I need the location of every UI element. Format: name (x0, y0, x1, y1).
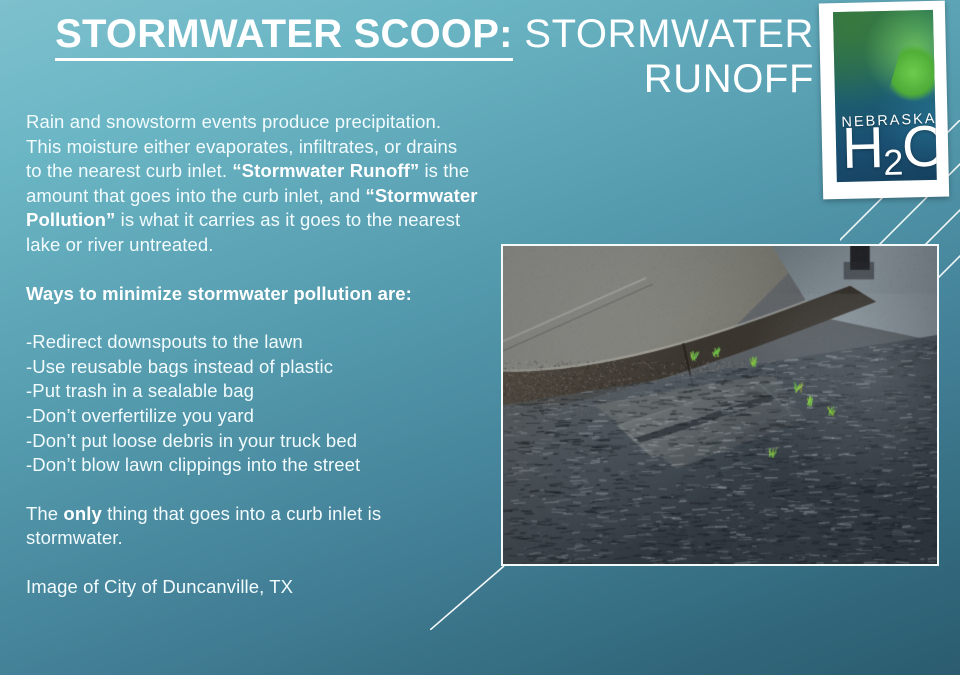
list-item: -Don’t overfertilize you yard (26, 404, 478, 429)
body-content: Rain and snowstorm events produce precip… (26, 110, 478, 600)
closing-paragraph: The only thing that goes into a curb inl… (26, 502, 478, 551)
spacer (26, 258, 478, 282)
logo-text-group: NEBRASKA H2O (841, 112, 934, 180)
list-item: -Redirect downspouts to the lawn (26, 330, 478, 355)
logo-artwork: NEBRASKA H2O (833, 10, 937, 182)
slide-canvas: STORMWATER SCOOP: STORMWATER RUNOFF NEBR… (0, 0, 960, 675)
logo-formula: H2O (842, 122, 935, 180)
spacer (26, 306, 478, 330)
intro-bold-runoff: “Stormwater Runoff” (232, 160, 419, 181)
closing-text-1: The (26, 503, 63, 524)
ways-heading: Ways to minimize stormwater pollution ar… (26, 282, 478, 307)
logo-formula-subscript: 2 (883, 142, 903, 182)
nebraska-h2o-logo: NEBRASKA H2O (819, 1, 949, 200)
storm-drain-photo-canvas (503, 246, 937, 564)
title-line-1: STORMWATER SCOOP: STORMWATER (0, 14, 822, 55)
spacer (26, 551, 478, 575)
image-credit: Image of City of Duncanville, TX (26, 575, 478, 600)
storm-drain-photo (501, 244, 939, 566)
list-item: -Use reusable bags instead of plastic (26, 355, 478, 380)
list-item: -Don’t put loose debris in your truck be… (26, 429, 478, 454)
title-rest-line-1: STORMWATER (513, 12, 814, 56)
ways-list: -Redirect downspouts to the lawn -Use re… (26, 330, 478, 478)
spacer (26, 478, 478, 502)
intro-paragraph: Rain and snowstorm events produce precip… (26, 110, 478, 258)
list-item: -Put trash in a sealable bag (26, 379, 478, 404)
closing-bold-only: only (63, 503, 101, 524)
title-line-2: RUNOFF (0, 59, 822, 100)
title-emphasis: STORMWATER SCOOP: (55, 12, 512, 61)
leaf-icon (887, 41, 936, 108)
title-rest-line-2: RUNOFF (644, 57, 814, 101)
list-item: -Don’t blow lawn clippings into the stre… (26, 453, 478, 478)
page-title: STORMWATER SCOOP: STORMWATER RUNOFF (0, 14, 822, 100)
